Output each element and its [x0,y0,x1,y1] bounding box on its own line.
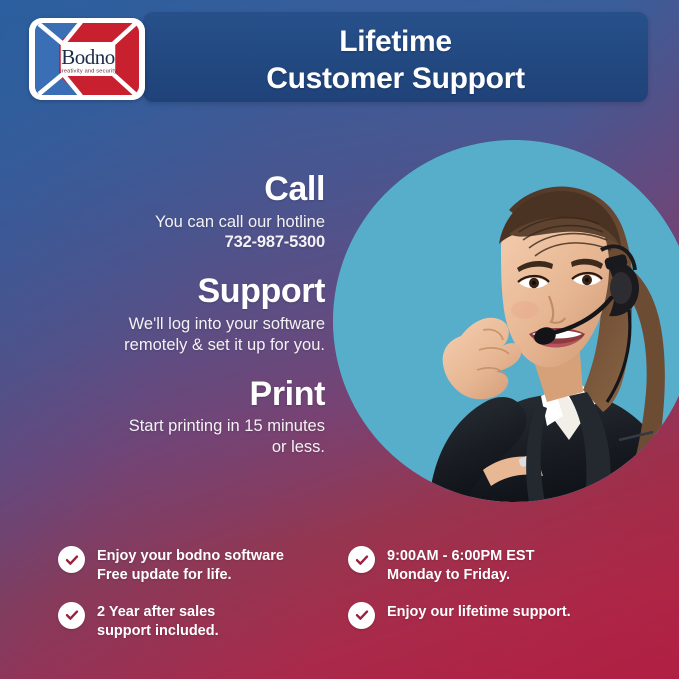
page-title: Lifetime Customer Support [143,24,648,97]
checklist-text-line1: Enjoy your bodno software [97,547,284,566]
feature-print-description: Start printing in 15 minutes or less. [0,416,325,458]
agent-photo [333,140,679,502]
checklist-text-line2: Monday to Friday. [387,566,534,585]
page-title-line1: Lifetime [339,25,452,58]
checklist-column-right: 9:00AM - 6:00PM EST Monday to Friday. En… [348,545,638,641]
bodno-logo[interactable]: Bodno creativity and security [29,18,145,100]
feature-support-desc-line1: We'll log into your software [0,314,325,335]
check-circle-icon [58,602,85,629]
svg-text:Bodno: Bodno [61,45,115,69]
list-item: 2 Year after sales support included. [58,601,348,642]
checklist-text: Enjoy your bodno software Free update fo… [97,545,284,586]
svg-text:creativity and security: creativity and security [59,69,117,75]
checklist-text-line1: 2 Year after sales [97,603,219,622]
feature-support-title: Support [0,274,325,310]
feature-call-desc-line1: You can call our hotline [0,212,325,233]
feature-support-desc-line2: remotely & set it up for you. [0,335,325,356]
header-banner: Lifetime Customer Support [143,12,648,102]
feature-list: Call You can call our hotline 732-987-53… [0,172,325,458]
checklist-text-line1: Enjoy our lifetime support. [387,603,571,622]
support-phone-number[interactable]: 732-987-5300 [0,232,325,253]
feature-call-description: You can call our hotline 732-987-5300 [0,212,325,254]
check-circle-icon [348,602,375,629]
support-poster: Lifetime Customer Support Bodno creativi… [0,0,679,679]
support-agent-photo-icon [333,140,679,502]
bodno-card-logo-icon: Bodno creativity and security [29,18,145,100]
feature-print: Print Start printing in 15 minutes or le… [0,377,325,458]
list-item: 9:00AM - 6:00PM EST Monday to Friday. [348,545,638,586]
checklist-text: Enjoy our lifetime support. [387,601,571,622]
feature-support-description: We'll log into your software remotely & … [0,314,325,356]
feature-support: Support We'll log into your software rem… [0,274,325,355]
feature-call-title: Call [0,172,325,208]
checklist-text: 2 Year after sales support included. [97,601,219,642]
check-circle-icon [348,546,375,573]
feature-print-desc-line2: or less. [0,437,325,458]
checklist-text-line1: 9:00AM - 6:00PM EST [387,547,534,566]
check-circle-icon [58,546,85,573]
checklist-text: 9:00AM - 6:00PM EST Monday to Friday. [387,545,534,586]
feature-call: Call You can call our hotline 732-987-53… [0,172,325,253]
feature-print-title: Print [0,377,325,413]
checklist-column-left: Enjoy your bodno software Free update fo… [58,545,348,641]
checklist-text-line2: support included. [97,622,219,641]
page-title-line2: Customer Support [143,61,648,98]
benefits-checklist: Enjoy your bodno software Free update fo… [58,545,658,641]
feature-print-desc-line1: Start printing in 15 minutes [0,416,325,437]
list-item: Enjoy your bodno software Free update fo… [58,545,348,586]
checklist-text-line2: Free update for life. [97,566,284,585]
list-item: Enjoy our lifetime support. [348,601,638,629]
